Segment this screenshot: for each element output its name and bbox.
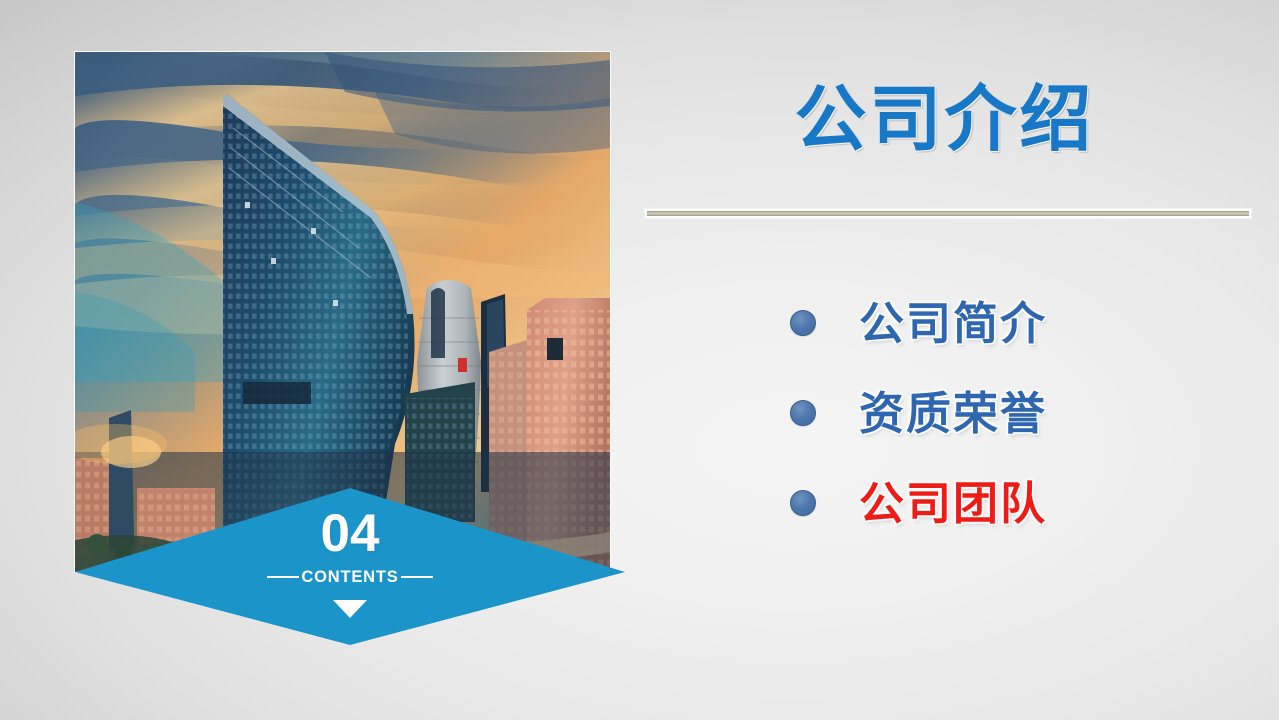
page-title: 公司介绍 [640, 84, 1249, 156]
agenda-item-label: 资质荣誉 [859, 391, 1047, 436]
contents-rule-left [267, 576, 299, 578]
title-divider-inner [647, 211, 1249, 216]
bullet-dot-icon [790, 310, 816, 336]
agenda-item-3[interactable]: 公司团队 [790, 458, 1260, 548]
agenda-item-label: 公司团队 [859, 481, 1047, 526]
section-number: 04 [321, 507, 380, 560]
agenda-item-2[interactable]: 资质荣誉 [790, 368, 1260, 458]
agenda-item-1[interactable]: 公司简介 [790, 278, 1260, 368]
contents-rule-right [401, 576, 433, 578]
bullet-dot-icon [790, 400, 816, 426]
caret-down-icon [333, 600, 367, 618]
bullet-dot-icon [790, 490, 816, 516]
agenda-item-label: 公司简介 [859, 301, 1047, 346]
contents-label: CONTENTS [299, 569, 400, 586]
right-content-column: 公司介绍 公司简介 资质荣誉 公司团队 [640, 0, 1279, 720]
section-number-label: 04 CONTENTS [75, 488, 625, 648]
title-divider [644, 208, 1252, 219]
presentation-slide: 04 CONTENTS 公司介绍 公司简介 资质荣誉 公司团队 [0, 0, 1279, 720]
agenda-list: 公司简介 资质荣誉 公司团队 [790, 278, 1260, 548]
contents-label-row: CONTENTS [267, 569, 432, 586]
